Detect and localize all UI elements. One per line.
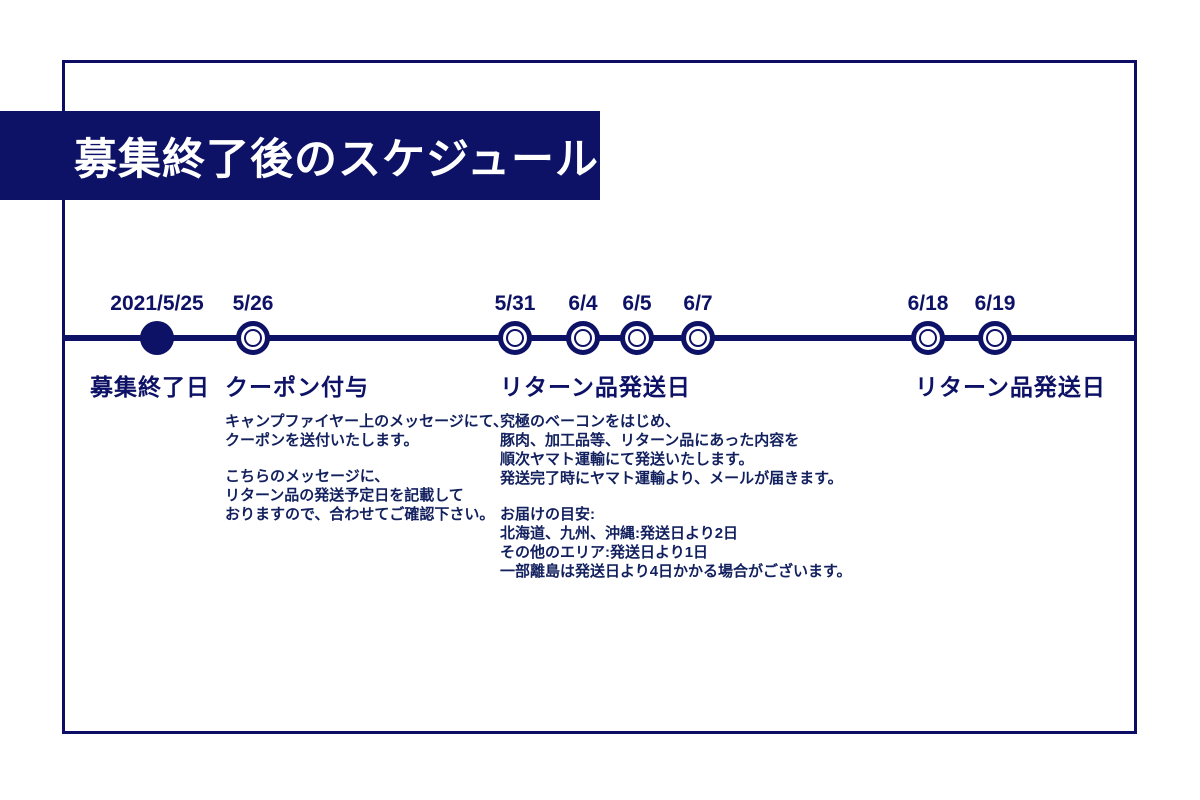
text-line: こちらのメッセージに、 bbox=[225, 467, 515, 486]
timeline-node-date: 6/5 bbox=[622, 292, 651, 316]
filled-circle-marker bbox=[140, 321, 174, 355]
page-title: 募集終了後のスケジュール bbox=[74, 125, 599, 187]
coupon-body: キャンプファイヤー上のメッセージにて、クーポンを送付いたします。 こちらのメッセ… bbox=[225, 412, 515, 524]
hollow-circle-marker bbox=[498, 321, 532, 355]
timeline: 2021/5/25 5/26 5/31 6/4 6/5 6/7 6/18 6/1… bbox=[62, 270, 1137, 360]
hollow-circle-marker bbox=[566, 321, 600, 355]
timeline-node-date: 5/26 bbox=[233, 292, 274, 316]
text-line: キャンプファイヤー上のメッセージにて、 bbox=[225, 412, 515, 431]
text-line: 究極のベーコンをはじめ、 bbox=[500, 412, 920, 431]
text-line: おりますので、合わせてご確認下さい。 bbox=[225, 505, 515, 524]
title-banner: 募集終了後のスケジュール bbox=[0, 111, 600, 200]
text-line: その他のエリア:発送日より1日 bbox=[500, 543, 920, 562]
text-line: 北海道、九州、沖縄:発送日より2日 bbox=[500, 524, 920, 543]
timeline-node-date: 5/31 bbox=[495, 292, 536, 316]
text-line: お届けの目安: bbox=[500, 505, 920, 524]
text-line: 一部離島は発送日より4日かかる場合がございます。 bbox=[500, 562, 920, 581]
text-line: 順次ヤマト運輸にて発送いたします。 bbox=[500, 450, 920, 469]
column-shipping: リターン品発送日 究極のベーコンをはじめ、豚肉、加工品等、リターン品にあった内容… bbox=[500, 368, 920, 581]
timeline-node-date: 6/4 bbox=[568, 292, 597, 316]
column-coupon: クーポン付与 キャンプファイヤー上のメッセージにて、クーポンを送付いたします。 … bbox=[225, 368, 515, 524]
shipping-body: 究極のベーコンをはじめ、豚肉、加工品等、リターン品にあった内容を順次ヤマト運輸に… bbox=[500, 412, 920, 581]
coupon-paragraph-1: キャンプファイヤー上のメッセージにて、クーポンを送付いたします。 bbox=[225, 412, 515, 450]
timeline-node-date: 6/18 bbox=[908, 292, 949, 316]
hollow-circle-marker bbox=[620, 321, 654, 355]
text-line: 豚肉、加工品等、リターン品にあった内容を bbox=[500, 431, 920, 450]
coupon-paragraph-2: こちらのメッセージに、リターン品の発送予定日を記載しておりますので、合わせてご確… bbox=[225, 467, 515, 524]
text-line: クーポンを送付いたします。 bbox=[225, 431, 515, 450]
shipping-paragraph-1: 究極のベーコンをはじめ、豚肉、加工品等、リターン品にあった内容を順次ヤマト運輸に… bbox=[500, 412, 920, 488]
hollow-circle-marker bbox=[911, 321, 945, 355]
hollow-circle-marker bbox=[978, 321, 1012, 355]
timeline-node-date: 2021/5/25 bbox=[110, 292, 203, 316]
timeline-node-date: 6/7 bbox=[683, 292, 712, 316]
timeline-node-date: 6/19 bbox=[975, 292, 1016, 316]
shipping-paragraph-2: お届けの目安:北海道、九州、沖縄:発送日より2日その他のエリア:発送日より1日一… bbox=[500, 505, 920, 581]
text-line: 発送完了時にヤマト運輸より、メールが届きます。 bbox=[500, 469, 920, 488]
column-heading-shipping-right: リターン品発送日 bbox=[915, 368, 1106, 402]
column-heading-shipping: リターン品発送日 bbox=[500, 368, 920, 402]
text-line: リターン品の発送予定日を記載して bbox=[225, 486, 515, 505]
column-heading-coupon: クーポン付与 bbox=[225, 368, 515, 402]
hollow-circle-marker bbox=[681, 321, 715, 355]
hollow-circle-marker bbox=[236, 321, 270, 355]
column-shipping-right: リターン品発送日 bbox=[915, 368, 1106, 412]
column-heading-end-of-recruitment: 募集終了日 bbox=[90, 368, 210, 402]
column-end-of-recruitment: 募集終了日 bbox=[90, 368, 210, 402]
